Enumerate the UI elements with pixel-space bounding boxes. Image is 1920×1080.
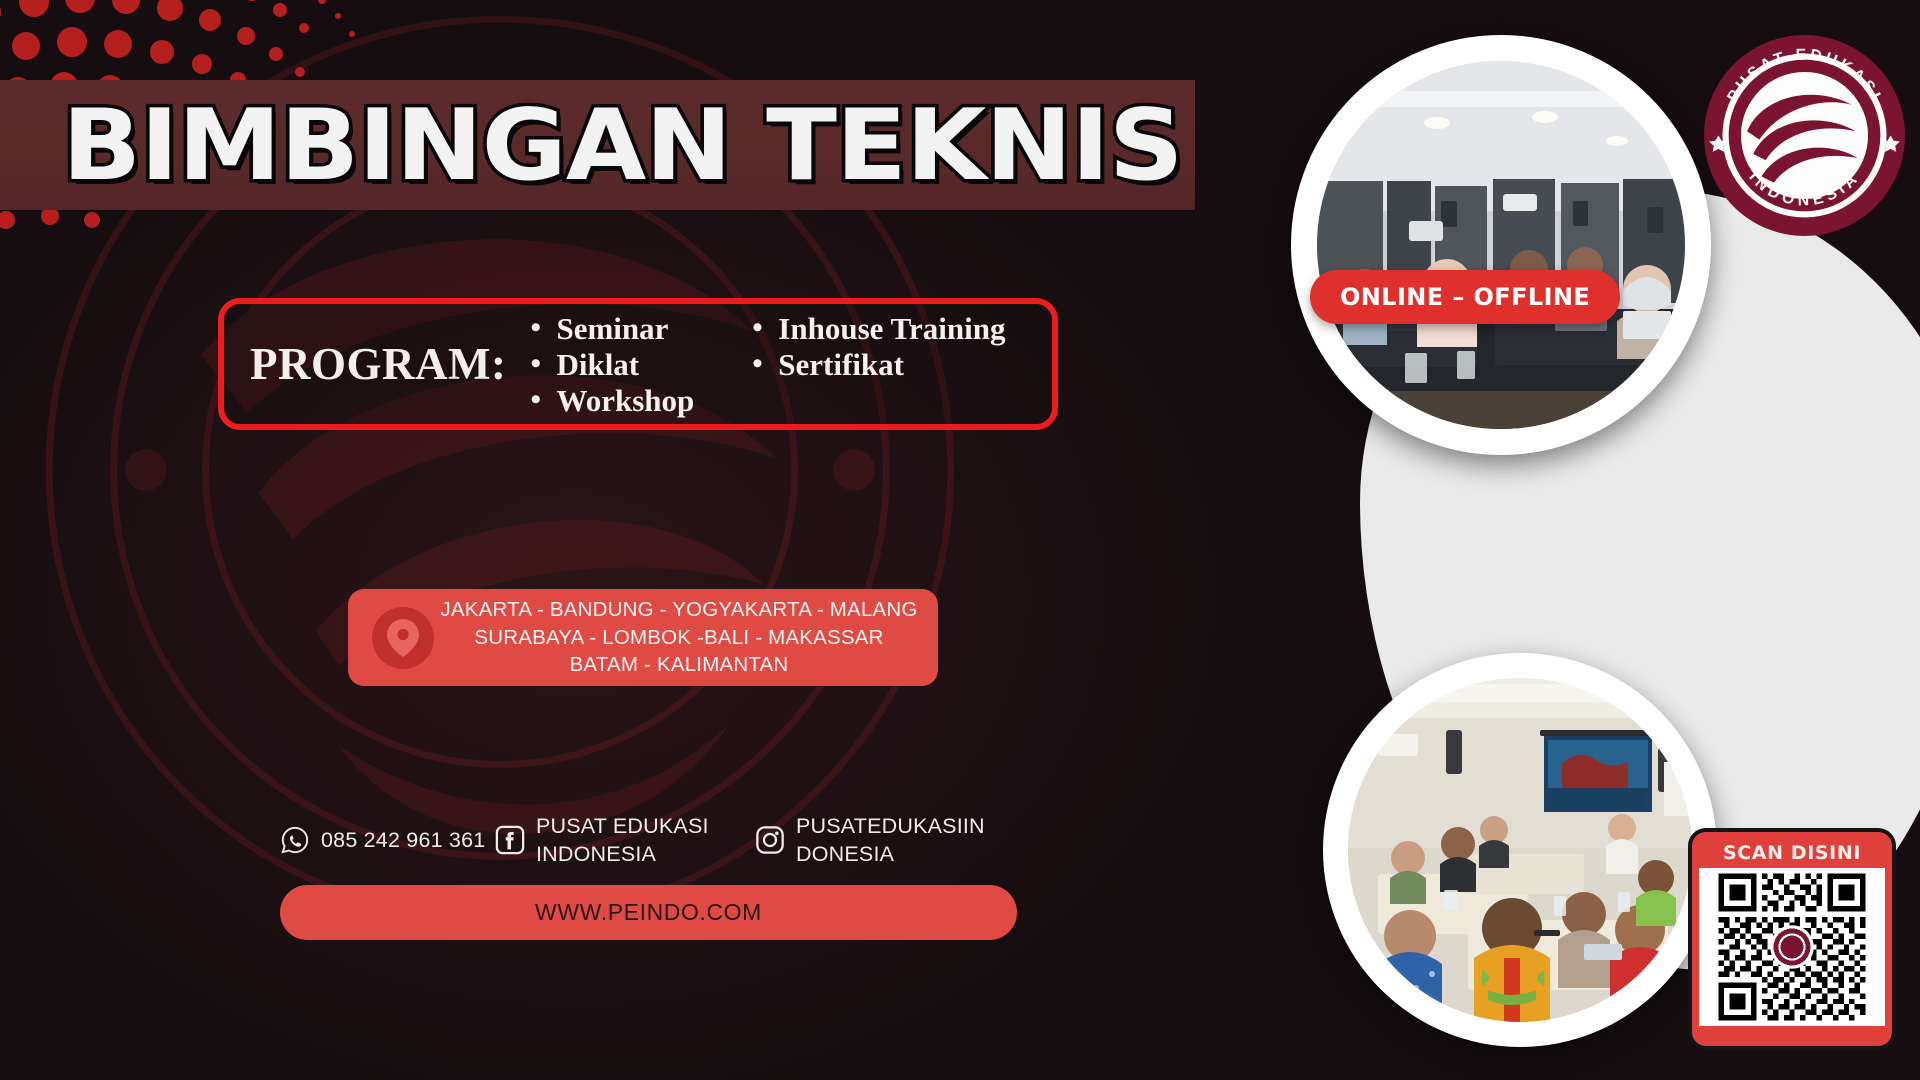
online-offline-badge: ONLINE – OFFLINE — [1310, 270, 1620, 324]
contact-line: PUSAT EDUKASI — [536, 812, 709, 840]
contact-whatsapp[interactable]: 085 242 961 361 — [280, 825, 495, 855]
program-columns: Seminar Diklat Workshop Inhouse Training… — [528, 311, 1005, 420]
program-box: PROGRAM: Seminar Diklat Workshop Inhouse… — [218, 298, 1058, 430]
contact-line: PUSATEDUKASIIN — [796, 812, 985, 840]
qr-card[interactable]: SCAN DISINI — [1688, 828, 1896, 1050]
page-title: BIMBINGAN TEKNIS — [62, 88, 1366, 203]
contact-line: INDONESIA — [536, 840, 709, 868]
contact-facebook[interactable]: PUSAT EDUKASI INDONESIA — [495, 812, 755, 869]
brand-logo: PUSAT EDUKASI INDONESIA — [1702, 33, 1907, 238]
poster-root: BIMBINGAN TEKNIS PROGRAM: Seminar Diklat… — [0, 0, 1920, 1080]
map-pin-glyph — [386, 618, 420, 658]
program-item: Workshop — [528, 383, 694, 419]
qr-code[interactable] — [1699, 868, 1885, 1026]
contact-text: PUSATEDUKASIIN DONESIA — [796, 812, 985, 869]
program-column-2: Inhouse Training Sertifikat — [750, 311, 1005, 420]
training-room-photo-top — [1291, 35, 1711, 455]
qr-code-matrix — [1699, 868, 1885, 1026]
program-item: Inhouse Training — [750, 311, 1005, 347]
locations-pill: JAKARTA - BANDUNG - YOGYAKARTA - MALANG … — [348, 589, 938, 686]
contact-row: 085 242 961 361 PUSAT EDUKASI INDONESIA … — [280, 812, 1020, 869]
whatsapp-icon — [280, 825, 310, 855]
program-item: Sertifikat — [750, 347, 1005, 383]
contact-text: 085 242 961 361 — [321, 826, 485, 854]
locations-line: BATAM - KALIMANTAN — [434, 651, 924, 679]
contact-instagram[interactable]: PUSATEDUKASIIN DONESIA — [755, 812, 1005, 869]
locations-line: JAKARTA - BANDUNG - YOGYAKARTA - MALANG — [434, 596, 924, 624]
program-item: Seminar — [528, 311, 694, 347]
program-column-1: Seminar Diklat Workshop — [528, 311, 694, 420]
contact-text: PUSAT EDUKASI INDONESIA — [536, 812, 709, 869]
seminar-room-photo-bottom — [1323, 653, 1717, 1047]
map-pin-icon — [372, 607, 434, 669]
website-label: WWW.PEINDO.COM — [535, 899, 762, 926]
photo-inner — [1348, 678, 1692, 1022]
instagram-icon — [755, 825, 785, 855]
locations-line: SURABAYA - LOMBOK -BALI - MAKASSAR — [434, 624, 924, 652]
photo-illustration-seminar — [1348, 678, 1692, 1022]
program-item: Diklat — [528, 347, 694, 383]
qr-title: SCAN DISINI — [1699, 839, 1885, 868]
contact-line: DONESIA — [796, 840, 985, 868]
facebook-icon — [495, 825, 525, 855]
locations-text: JAKARTA - BANDUNG - YOGYAKARTA - MALANG … — [434, 596, 938, 680]
contact-line: 085 242 961 361 — [321, 826, 485, 854]
photo-inner — [1317, 61, 1685, 429]
website-bar[interactable]: WWW.PEINDO.COM — [280, 885, 1017, 940]
photo-illustration-classroom — [1317, 61, 1685, 429]
program-label: PROGRAM: — [250, 338, 506, 390]
